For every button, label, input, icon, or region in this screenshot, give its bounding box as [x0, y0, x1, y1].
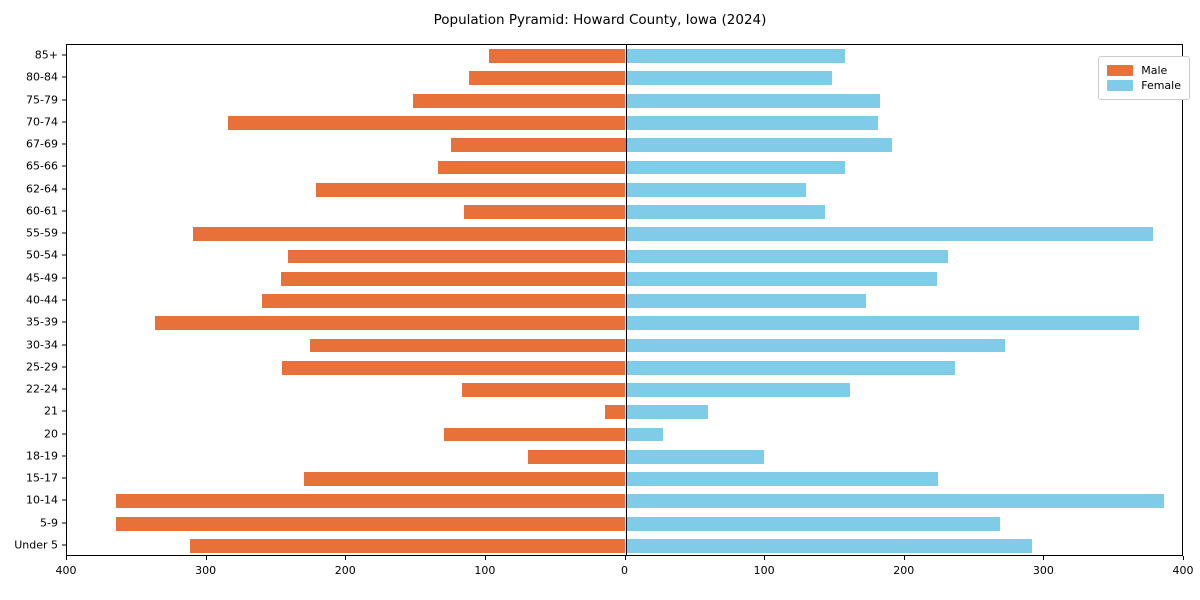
bar-row [67, 205, 1182, 219]
x-axis-tick-label: 300 [1033, 564, 1054, 577]
y-axis-tick [62, 433, 66, 434]
bar-row [67, 272, 1182, 286]
y-axis-tick [62, 544, 66, 545]
x-axis-tick-label: 300 [195, 564, 216, 577]
bar-female[interactable] [626, 183, 806, 197]
bar-male[interactable] [489, 49, 626, 63]
bar-male[interactable] [469, 71, 625, 85]
x-axis-tick-label: 200 [893, 564, 914, 577]
bar-female[interactable] [626, 49, 845, 63]
bar-male[interactable] [462, 383, 625, 397]
y-axis-tick-label: 80-84 [26, 71, 58, 84]
x-axis-tick [66, 556, 67, 560]
bar-female[interactable] [626, 450, 764, 464]
bar-male[interactable] [155, 316, 626, 330]
x-axis-tick [1043, 556, 1044, 560]
bar-male[interactable] [528, 450, 626, 464]
bar-male[interactable] [282, 361, 625, 375]
bar-row [67, 428, 1182, 442]
y-axis-tick [62, 455, 66, 456]
bar-male[interactable] [413, 94, 625, 108]
bar-male[interactable] [116, 517, 626, 531]
y-axis-tick-label: 67-69 [26, 138, 58, 151]
bar-male[interactable] [451, 138, 626, 152]
legend-item[interactable]: Female [1107, 79, 1181, 92]
bar-male[interactable] [310, 339, 626, 353]
bar-female[interactable] [626, 250, 949, 264]
chart-title: Population Pyramid: Howard County, Iowa … [0, 12, 1200, 28]
x-axis-tick-label: 0 [621, 564, 628, 577]
bar-female[interactable] [626, 539, 1032, 553]
y-axis-tick-label: Under 5 [14, 538, 58, 551]
y-axis-tick-label: 65-66 [26, 160, 58, 173]
bar-row [67, 383, 1182, 397]
bar-row [67, 450, 1182, 464]
y-axis-tick [62, 478, 66, 479]
x-axis-tick-label: 400 [56, 564, 77, 577]
bar-rows-container [67, 45, 1182, 555]
y-axis-tick [62, 166, 66, 167]
bar-female[interactable] [626, 227, 1154, 241]
legend-label: Female [1141, 79, 1181, 92]
plot-area [66, 44, 1183, 556]
y-axis-tick-label: 20 [44, 427, 58, 440]
y-axis-tick [62, 322, 66, 323]
bar-row [67, 138, 1182, 152]
bar-male[interactable] [228, 116, 626, 130]
bar-row [67, 116, 1182, 130]
bar-female[interactable] [626, 428, 664, 442]
x-axis-tick [1183, 556, 1184, 560]
bar-male[interactable] [190, 539, 626, 553]
y-axis-tick [62, 188, 66, 189]
x-axis-tick-label: 100 [474, 564, 495, 577]
bar-female[interactable] [626, 94, 880, 108]
chart-legend: MaleFemale [1098, 56, 1190, 100]
bar-row [67, 250, 1182, 264]
y-axis-tick [62, 389, 66, 390]
bar-female[interactable] [626, 405, 708, 419]
bar-row [67, 94, 1182, 108]
x-axis-tick-label: 100 [754, 564, 775, 577]
y-axis-tick-label: 35-39 [26, 316, 58, 329]
bar-male[interactable] [304, 472, 625, 486]
x-axis-tick-label: 200 [335, 564, 356, 577]
y-axis-tick-label: 70-74 [26, 115, 58, 128]
x-axis-tick [625, 556, 626, 560]
bar-male[interactable] [444, 428, 626, 442]
y-axis-tick [62, 99, 66, 100]
bar-male[interactable] [281, 272, 626, 286]
bar-female[interactable] [626, 316, 1140, 330]
y-axis-tick-label: 22-24 [26, 383, 58, 396]
y-axis-tick-label: 10-14 [26, 494, 58, 507]
bar-male[interactable] [116, 494, 626, 508]
y-axis-tick [62, 77, 66, 78]
y-axis-tick-label: 55-59 [26, 227, 58, 240]
y-axis-tick-label: 30-34 [26, 338, 58, 351]
bar-female[interactable] [626, 494, 1165, 508]
bar-female[interactable] [626, 161, 845, 175]
bar-female[interactable] [626, 294, 866, 308]
y-axis-tick [62, 55, 66, 56]
bar-row [67, 472, 1182, 486]
bar-row [67, 361, 1182, 375]
bar-female[interactable] [626, 116, 879, 130]
bar-row [67, 49, 1182, 63]
bar-row [67, 161, 1182, 175]
y-axis-tick-label: 40-44 [26, 294, 58, 307]
zero-axis-line [626, 45, 627, 555]
x-axis-tick-label: 400 [1173, 564, 1194, 577]
bar-female[interactable] [626, 138, 893, 152]
bar-row [67, 227, 1182, 241]
y-axis-tick-label: 60-61 [26, 204, 58, 217]
bar-female[interactable] [626, 272, 937, 286]
bar-female[interactable] [626, 339, 1006, 353]
x-axis-tick [206, 556, 207, 560]
y-axis-tick-label: 15-17 [26, 472, 58, 485]
legend-swatch-female [1107, 80, 1133, 91]
bar-male[interactable] [464, 205, 626, 219]
bar-row [67, 71, 1182, 85]
y-axis-tick [62, 300, 66, 301]
bar-male[interactable] [438, 161, 625, 175]
y-axis-tick [62, 144, 66, 145]
y-axis-tick [62, 233, 66, 234]
bar-row [67, 405, 1182, 419]
y-axis-tick-label: 75-79 [26, 93, 58, 106]
bar-row [67, 316, 1182, 330]
bar-row [67, 183, 1182, 197]
y-axis-tick-label: 21 [44, 405, 58, 418]
bar-male[interactable] [316, 183, 626, 197]
bar-row [67, 494, 1182, 508]
bar-row [67, 339, 1182, 353]
bar-row [67, 517, 1182, 531]
y-axis-tick [62, 255, 66, 256]
y-axis-tick [62, 366, 66, 367]
bar-male[interactable] [193, 227, 626, 241]
bar-row [67, 294, 1182, 308]
bar-male[interactable] [605, 405, 626, 419]
bar-female[interactable] [626, 361, 956, 375]
y-axis-tick [62, 411, 66, 412]
y-axis-tick-label: 50-54 [26, 249, 58, 262]
y-axis-tick-label: 18-19 [26, 449, 58, 462]
y-axis-tick-label: 25-29 [26, 360, 58, 373]
bar-male[interactable] [288, 250, 626, 264]
y-axis-tick-label: 85+ [35, 49, 58, 62]
x-axis-tick [764, 556, 765, 560]
y-axis-tick [62, 500, 66, 501]
legend-swatch-male [1107, 65, 1133, 76]
y-axis-tick [62, 121, 66, 122]
bar-female[interactable] [626, 517, 1000, 531]
legend-label: Male [1141, 64, 1167, 77]
y-axis-tick [62, 522, 66, 523]
bar-row [67, 539, 1182, 553]
bar-female[interactable] [626, 71, 833, 85]
bar-female[interactable] [626, 472, 939, 486]
bar-female[interactable] [626, 383, 851, 397]
y-axis-tick [62, 210, 66, 211]
y-axis-tick-label: 62-64 [26, 182, 58, 195]
x-axis-tick [485, 556, 486, 560]
y-axis-tick [62, 277, 66, 278]
x-axis-tick [345, 556, 346, 560]
y-axis-tick-label: 5-9 [40, 516, 58, 529]
population-pyramid-figure: Population Pyramid: Howard County, Iowa … [0, 0, 1200, 600]
y-axis-tick-label: 45-49 [26, 271, 58, 284]
x-axis-tick [904, 556, 905, 560]
legend-item[interactable]: Male [1107, 64, 1181, 77]
y-axis-tick [62, 344, 66, 345]
bar-male[interactable] [262, 294, 625, 308]
bar-female[interactable] [626, 205, 826, 219]
